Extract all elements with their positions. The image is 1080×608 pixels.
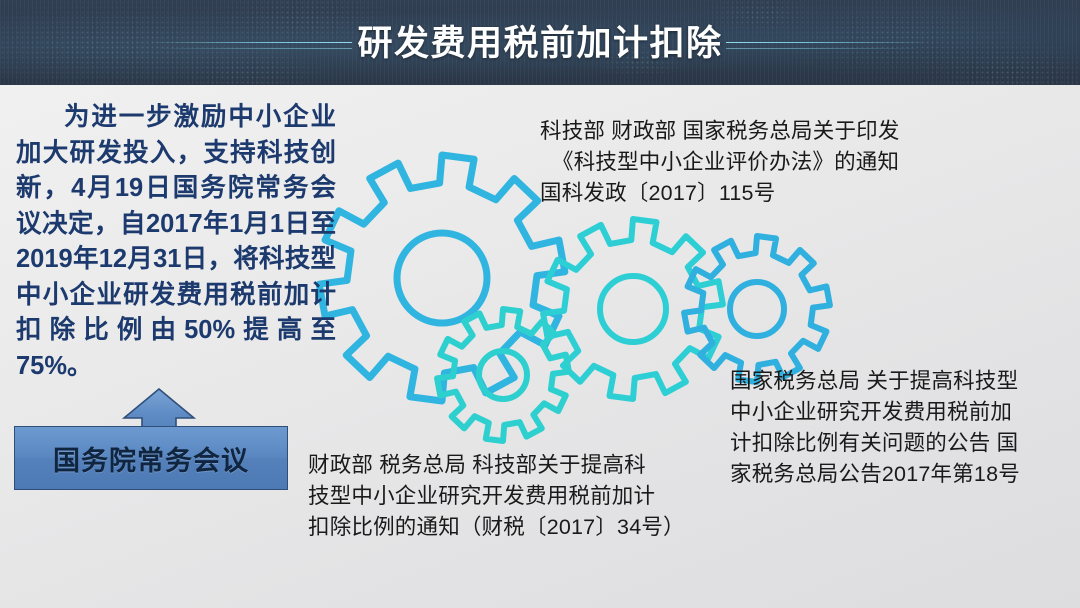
note-line: 国科发政〔2017〕115号: [540, 178, 940, 209]
note-line: 计扣除比例有关问题的公告 国: [730, 428, 1070, 459]
gear-bottom-small: [437, 309, 569, 441]
gear-medium-hub: [600, 276, 666, 342]
note-right-middle: 国家税务总局 关于提高科技型 中小企业研究开发费用税前加 计扣除比例有关问题的公…: [730, 366, 1070, 490]
gear-large-body: [319, 155, 565, 401]
gear-bottom-small-body: [437, 309, 569, 441]
note-line: 科技部 财政部 国家税务总局关于印发: [540, 116, 940, 147]
summary-paragraph: 为进一步激励中小企业加大研发投入，支持科技创新，4月19日国务院常务会议决定，自…: [16, 100, 336, 384]
slide-header-banner: 研发费用税前加计扣除: [0, 0, 1080, 85]
gear-bottom-small-hub: [479, 351, 527, 399]
gear-large-hub: [397, 233, 487, 323]
gear-right-small-hub: [730, 282, 784, 336]
gear-medium-body: [543, 219, 723, 399]
note-line: 家税务总局公告2017年第18号: [730, 459, 1070, 490]
gear-right-small-body: [684, 236, 830, 382]
gear-right-small: [684, 236, 830, 382]
gear-large: [319, 155, 565, 401]
state-council-callout: 国务院常务会议: [14, 388, 298, 498]
note-line: 《科技型中小企业评价办法》的通知: [540, 147, 940, 178]
gear-medium: [543, 219, 723, 399]
note-top-right: 科技部 财政部 国家税务总局关于印发 《科技型中小企业评价办法》的通知 国科发政…: [540, 116, 940, 209]
note-line: 财政部 税务总局 科技部关于提高科: [308, 450, 728, 481]
slide-root: 研发费用税前加计扣除 为进一步激励中小企业加大研发投入，支持科技创新，4月19日…: [0, 0, 1080, 608]
note-line: 扣除比例的通知（财税〔2017〕34号）: [308, 512, 728, 543]
state-council-box-label: 国务院常务会议: [53, 439, 249, 478]
note-line: 国家税务总局 关于提高科技型: [730, 366, 1070, 397]
note-line: 技型中小企业研究开发费用税前加计: [308, 481, 728, 512]
state-council-box[interactable]: 国务院常务会议: [14, 426, 288, 490]
page-title: 研发费用税前加计扣除: [0, 22, 1080, 66]
note-bottom-middle: 财政部 税务总局 科技部关于提高科 技型中小企业研究开发费用税前加计 扣除比例的…: [308, 450, 728, 543]
note-line: 中小企业研究开发费用税前加: [730, 397, 1070, 428]
